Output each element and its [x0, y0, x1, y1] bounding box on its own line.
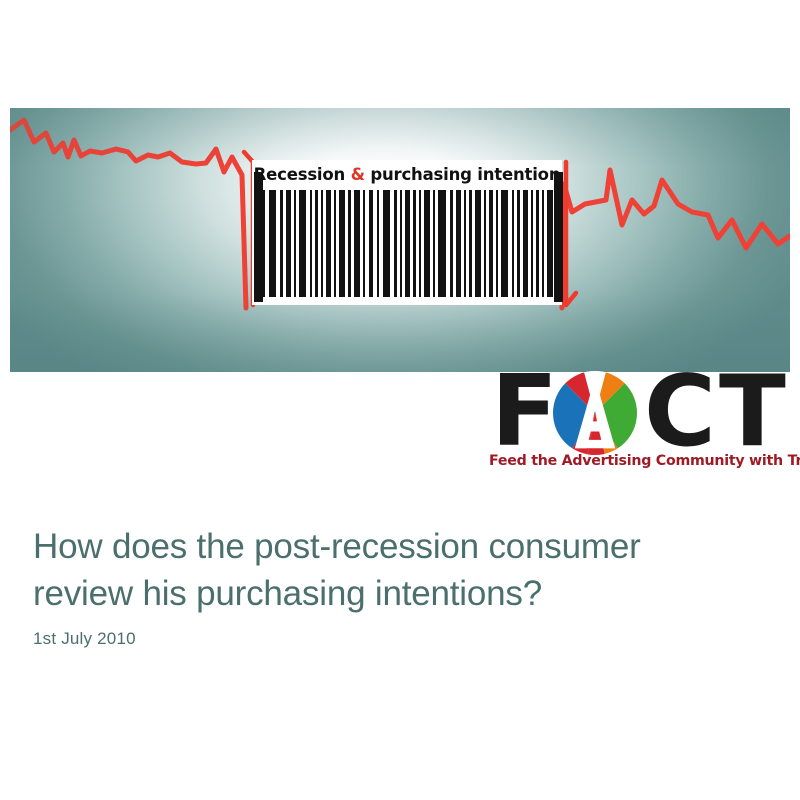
- barcode-bar: [394, 190, 397, 297]
- barcode-bar: [542, 190, 544, 297]
- barcode-bar: [456, 190, 461, 297]
- barcode-bars: [252, 190, 562, 297]
- barcode-bar: [501, 190, 508, 297]
- barcode-bar: [424, 190, 430, 297]
- barcode-guard-bar-right: [554, 172, 563, 302]
- barcode-bar: [315, 190, 318, 297]
- barcode-bar: [531, 190, 533, 297]
- presentation-slide: Recession & purchasing intention F: [0, 0, 800, 800]
- logo-mark-segments: [553, 371, 637, 455]
- barcode-bar: [400, 190, 402, 297]
- logo-letter-f: F: [491, 363, 558, 461]
- barcode-bar: [363, 190, 365, 297]
- barcode-bar: [489, 190, 493, 297]
- barcode-bar: [469, 190, 472, 297]
- barcode-bar: [348, 190, 351, 297]
- barcode-guard-bar-left: [254, 172, 263, 302]
- barcode-title-text: Recession & purchasing intention: [252, 160, 562, 190]
- barcode-bar: [369, 190, 373, 297]
- barcode-graphic: Recession & purchasing intention: [242, 160, 572, 350]
- logo-letter-t: T: [719, 363, 786, 461]
- barcode-card: Recession & purchasing intention: [252, 160, 562, 305]
- barcode-title-ampersand: &: [351, 165, 365, 184]
- barcode-bar: [512, 190, 514, 297]
- barcode-bar: [339, 190, 345, 297]
- page-title: How does the post-recession consumer rev…: [33, 523, 763, 617]
- barcode-bar: [413, 190, 416, 297]
- barcode-bar: [419, 190, 421, 297]
- barcode-bar: [433, 190, 435, 297]
- fact-logo: F: [489, 369, 795, 477]
- barcode-bar: [496, 190, 498, 297]
- barcode-bar: [269, 190, 276, 297]
- barcode-bar: [517, 190, 520, 297]
- barcode-bar: [464, 190, 466, 297]
- barcode-bar: [536, 190, 539, 297]
- logo-letter-c: C: [644, 363, 716, 461]
- logo-mark-a-crossbar-gap: [575, 440, 615, 448]
- logo-tagline: Feed the Advertising Community with Tren…: [489, 453, 795, 469]
- barcode-title-prefix: Recession: [254, 165, 351, 184]
- barcode-bar: [475, 190, 481, 297]
- barcode-bar: [377, 190, 379, 297]
- barcode-bar: [321, 190, 323, 297]
- barcode-bar: [547, 190, 553, 297]
- page-title-line-2: review his purchasing intentions?: [33, 570, 763, 617]
- barcode-bar: [299, 190, 306, 297]
- barcode-bar: [354, 190, 360, 297]
- barcode-bar: [450, 190, 453, 297]
- barcode-bar: [438, 190, 446, 297]
- recession-banner-image: Recession & purchasing intention: [10, 108, 790, 372]
- barcode-red-accent-right: [566, 162, 576, 305]
- barcode-bar: [334, 190, 336, 297]
- barcode-title-suffix: purchasing intention: [365, 165, 561, 184]
- barcode-bar: [294, 190, 296, 297]
- presentation-date: 1st July 2010: [33, 629, 136, 649]
- barcode-bar: [484, 190, 486, 297]
- barcode-bar: [280, 190, 283, 297]
- barcode-bar: [523, 190, 528, 297]
- barcode-bar: [286, 190, 291, 297]
- barcode-bar: [383, 190, 390, 297]
- fact-logo-letters: F: [489, 369, 795, 451]
- barcode-bar: [405, 190, 410, 297]
- barcode-bar: [326, 190, 331, 297]
- page-title-line-1: How does the post-recession consumer: [33, 527, 641, 566]
- logo-letter-a-color-mark: [553, 371, 637, 455]
- barcode-bar: [310, 190, 312, 297]
